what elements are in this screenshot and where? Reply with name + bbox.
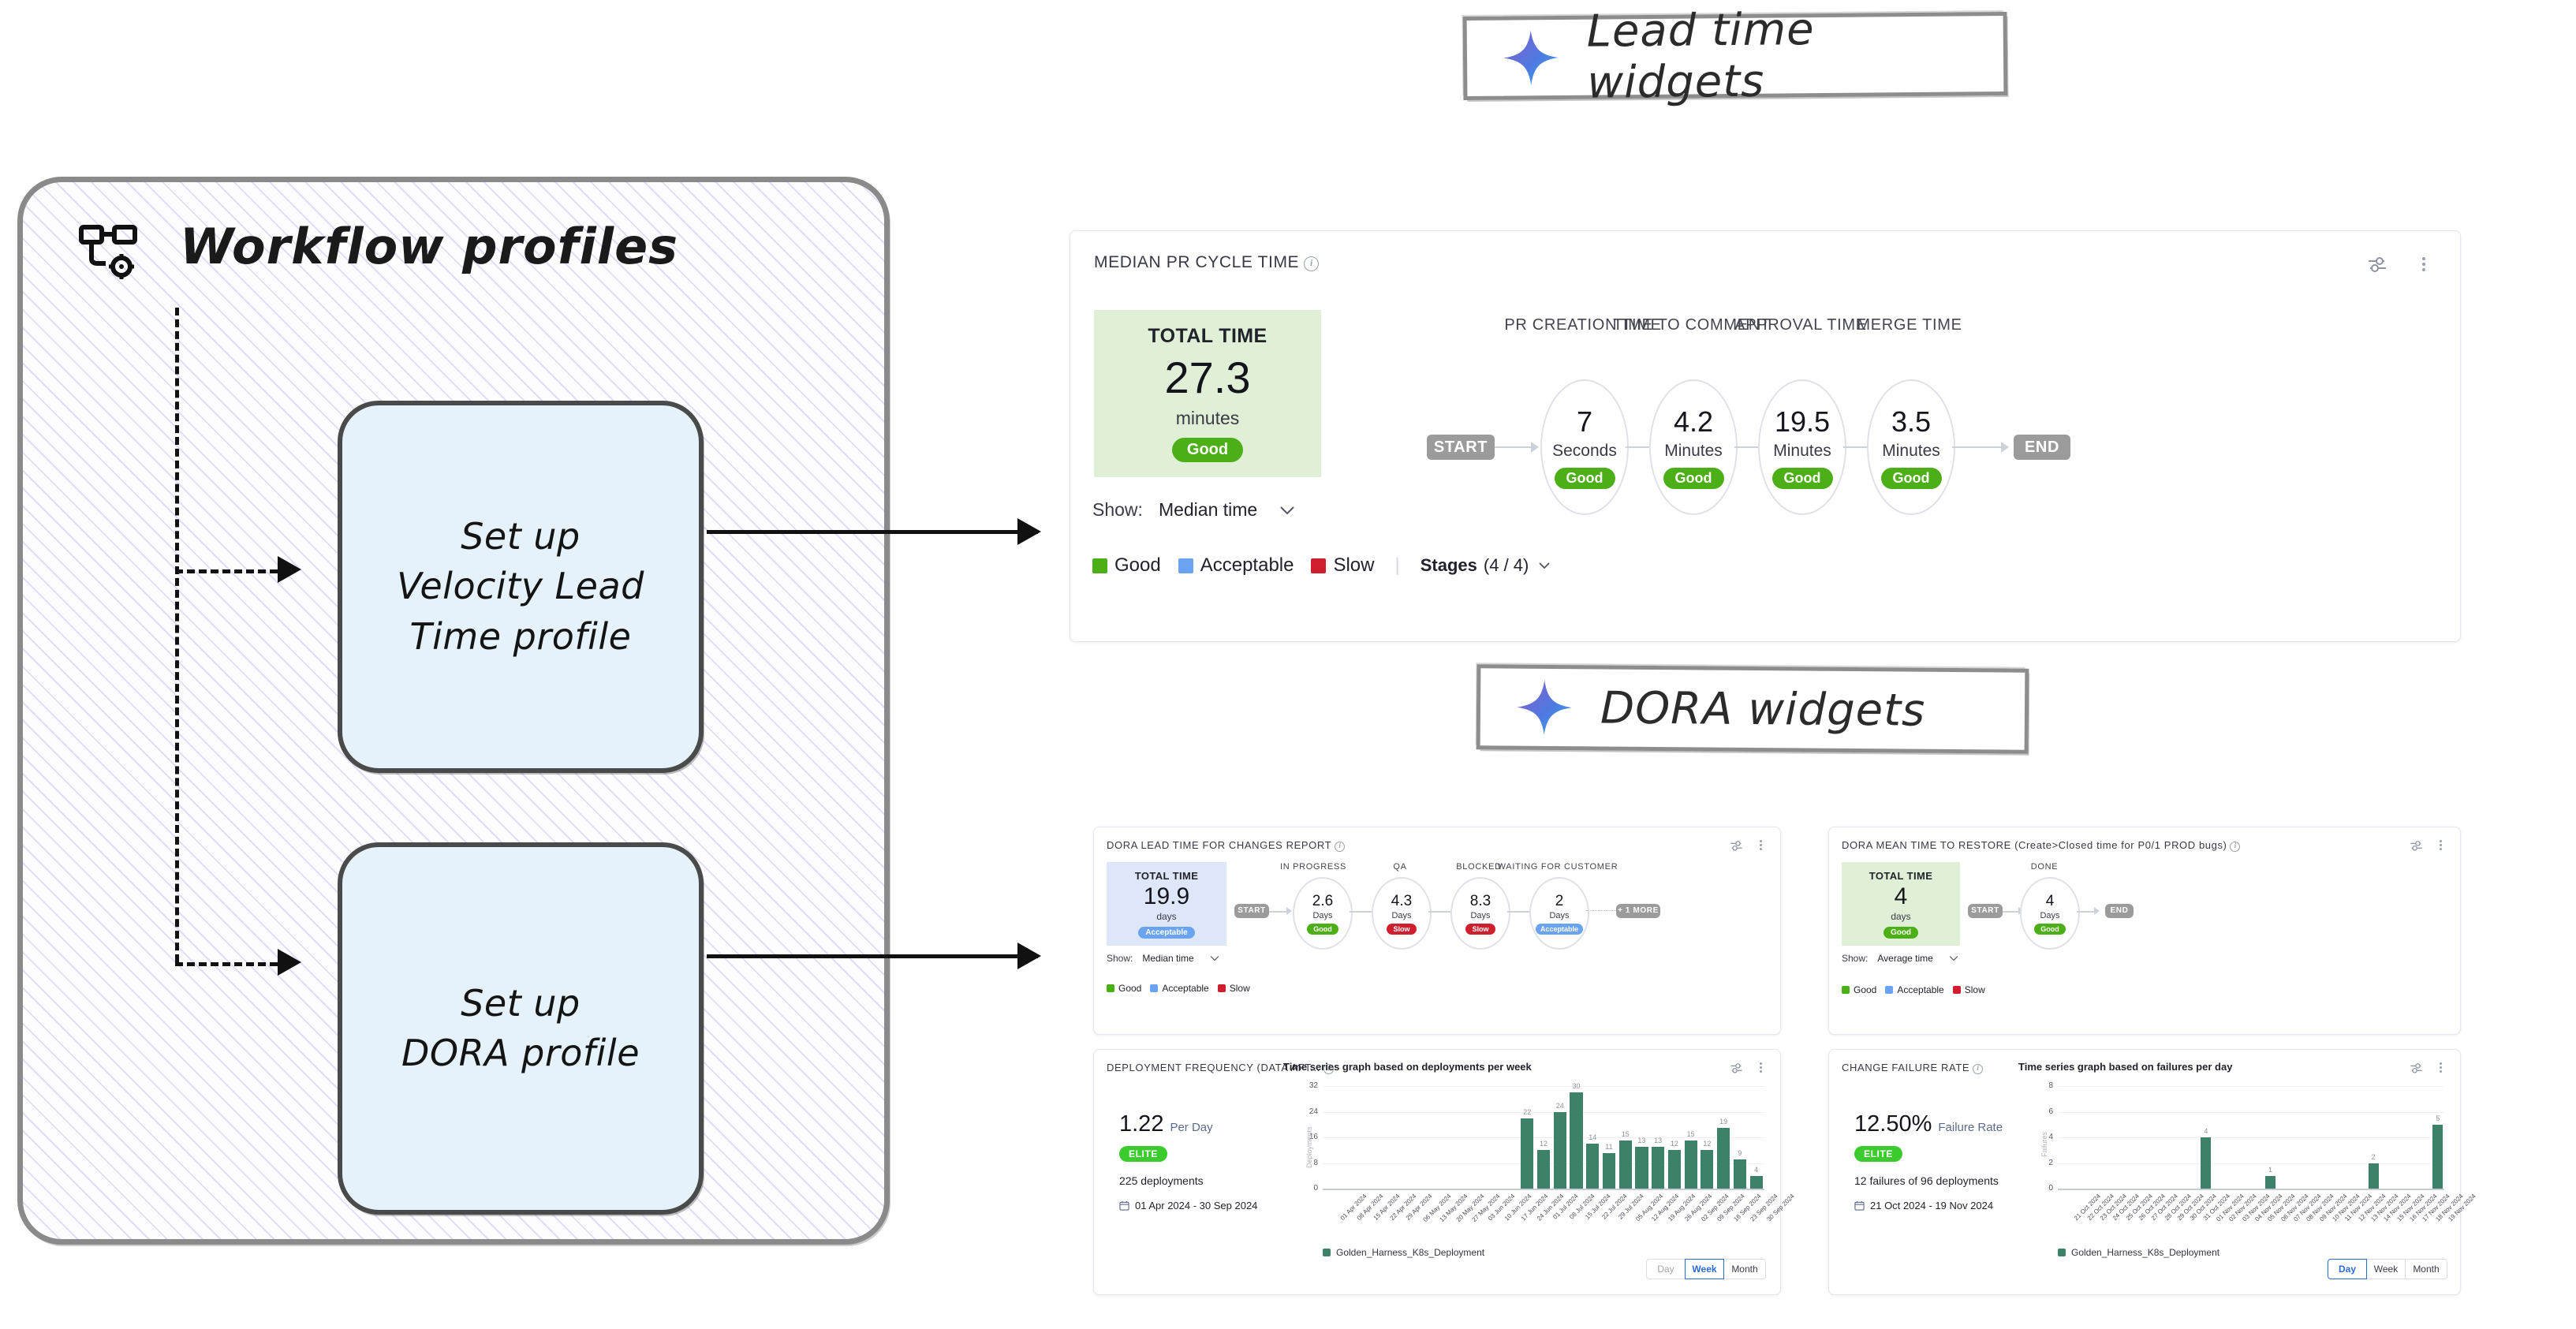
date-range: 21 Oct 2024 - 19 Nov 2024 <box>1870 1200 1993 1211</box>
stage-status-badge: Good <box>1772 468 1833 489</box>
stage-ellipse-2[interactable]: 8.3 Days Slow <box>1450 877 1510 950</box>
stage-status-badge: Slow <box>1465 924 1495 935</box>
legend-swatch-acceptable <box>1150 984 1158 992</box>
legend-label-slow: Slow <box>1965 984 1985 995</box>
stage-ellipse-1[interactable]: 4.3 Days Slow <box>1372 877 1432 950</box>
range-button-month[interactable]: Month <box>1723 1259 1766 1279</box>
total-time-value: 27.3 <box>1165 356 1251 400</box>
kpi-value: 1.22 <box>1119 1111 1163 1137</box>
bar-value-label: 1 <box>2265 1166 2275 1174</box>
kpi-unit: Failure Rate <box>1938 1121 2003 1134</box>
stage-value: 2.6 <box>1312 893 1333 910</box>
node-label: Set up DORA profile <box>401 979 640 1079</box>
y-axis-title: Failures <box>2040 1132 2048 1157</box>
connector <box>1495 446 1533 448</box>
stage-unit: Minutes <box>1773 442 1831 461</box>
kpi-block: 12.50% Failure Rate ELITE 12 failures of… <box>1854 1111 2003 1211</box>
bar-value-label: 13 <box>1635 1137 1648 1144</box>
stage-ellipse-3[interactable]: 3.5 Minutes Good <box>1867 379 1955 515</box>
show-control[interactable]: Show: Median time <box>1107 953 1219 964</box>
stage-value: 4.3 <box>1391 893 1412 910</box>
dora-lead-time-card: DORA LEAD TIME FOR CHANGES REPORTi TOTAL… <box>1093 827 1781 1035</box>
bar-value-label: 12 <box>1668 1140 1681 1148</box>
sliders-icon[interactable] <box>1730 839 1743 852</box>
dashed-branch-velocity <box>175 569 278 573</box>
bar-value-label: 4 <box>1750 1166 1763 1174</box>
range-toggle-group[interactable]: Day Week Month <box>1646 1259 1766 1279</box>
stage-status-badge: Slow <box>1387 924 1416 935</box>
total-time-label: TOTAL TIME <box>1135 870 1199 882</box>
show-label: Show: <box>1107 953 1133 964</box>
show-label: Show: <box>1842 953 1868 964</box>
range-toggle-group[interactable]: Day Week Month <box>2328 1259 2447 1279</box>
stage-status-badge: Good <box>1881 468 1942 489</box>
y-axis-tick: 8 <box>2034 1081 2053 1090</box>
info-icon[interactable]: i <box>2230 842 2240 852</box>
stage-status-badge: Good <box>1555 468 1615 489</box>
bar[interactable] <box>2369 1163 2379 1189</box>
stage-unit: Days <box>1470 911 1490 920</box>
total-time-status-badge: Good <box>1172 438 1243 462</box>
stage-unit: Minutes <box>1664 442 1723 461</box>
card-title: DORA MEAN TIME TO RESTORE (Create>Closed… <box>1842 839 2227 851</box>
range-button-week[interactable]: Week <box>2366 1259 2406 1279</box>
bar-value-label: 9 <box>1734 1149 1746 1157</box>
total-time-label: TOTAL TIME <box>1148 325 1267 348</box>
series-swatch <box>2058 1249 2066 1256</box>
stages-count: (4 / 4) <box>1484 555 1529 576</box>
x-axis-line <box>1323 1189 1764 1190</box>
connector <box>1952 446 2003 448</box>
bar-value-label: 15 <box>1619 1130 1632 1138</box>
range-button-month[interactable]: Month <box>2405 1259 2447 1279</box>
sparkle-icon <box>1502 28 1561 88</box>
bar-value-label: 19 <box>1717 1118 1730 1126</box>
grid-line <box>1323 1112 1764 1113</box>
stage-unit: Days <box>1549 911 1569 920</box>
info-icon[interactable]: i <box>1335 842 1345 852</box>
stage-value: 4 <box>2046 893 2055 910</box>
start-cap: START <box>1234 904 1269 918</box>
stage-value: 19.5 <box>1775 405 1830 439</box>
connector-arrow <box>2001 442 2009 453</box>
legend-swatch-slow <box>1311 558 1326 573</box>
stage-ellipse-3[interactable]: 2 Days Acceptable <box>1529 877 1589 950</box>
kpi-value: 12.50% <box>1854 1111 1932 1137</box>
bar-value-label: 14 <box>1586 1133 1599 1141</box>
kebab-menu-icon[interactable] <box>2435 838 2446 852</box>
stages-label[interactable]: Stages <box>1421 555 1477 576</box>
bar-value-label: 12 <box>1537 1140 1550 1148</box>
y-axis-tick: 0 <box>1299 1184 1318 1193</box>
bar[interactable] <box>2432 1125 2443 1189</box>
bar[interactable] <box>1701 1150 1713 1189</box>
stage-status-badge: Good <box>2034 924 2066 935</box>
show-control[interactable]: Show: Average time <box>1842 953 1958 964</box>
grid-line <box>1323 1137 1764 1138</box>
grid-line <box>2058 1163 2444 1164</box>
bar[interactable] <box>1652 1147 1664 1189</box>
legend-label-slow: Slow <box>1230 983 1250 994</box>
stage-value: 2 <box>1555 893 1564 910</box>
bar-value-label: 13 <box>1652 1137 1664 1144</box>
sub-metric: 225 deployments <box>1119 1174 1257 1187</box>
total-time-value: 4 <box>1895 885 1908 909</box>
y-axis-tick: 24 <box>1299 1107 1318 1116</box>
chevron-down-icon[interactable] <box>1949 955 1958 961</box>
bar-value-label: 22 <box>1521 1108 1533 1116</box>
end-label: END <box>2111 906 2129 915</box>
bar[interactable] <box>1750 1176 1763 1189</box>
range-button-day[interactable]: Day <box>2328 1259 2367 1279</box>
sparkle-icon <box>1515 678 1574 737</box>
bar-value-label: 4 <box>2201 1127 2211 1135</box>
stage-ellipse-1[interactable]: 4.2 Minutes Good <box>1649 379 1738 515</box>
bar[interactable] <box>1521 1118 1533 1189</box>
dashed-branch-dora <box>175 962 278 966</box>
legend-label-acceptable: Acceptable <box>1897 984 1943 995</box>
bar[interactable] <box>1635 1147 1648 1189</box>
start-label: START <box>1971 906 1999 915</box>
performance-badge: ELITE <box>1119 1146 1167 1162</box>
kpi-block: 1.22 Per Day ELITE 225 deployments 01 Ap… <box>1119 1111 1257 1211</box>
total-time-status-badge: Acceptable <box>1138 927 1194 939</box>
connector-arrow <box>1286 907 1292 915</box>
bar-value-label: 30 <box>1570 1082 1582 1090</box>
date-range: 01 Apr 2024 - 30 Sep 2024 <box>1135 1200 1257 1211</box>
stage-ellipse-2[interactable]: 19.5 Minutes Good <box>1758 379 1846 515</box>
legend-swatch-good <box>1092 558 1107 573</box>
total-time-panel: TOTAL TIME 27.3 minutes Good <box>1094 310 1321 477</box>
bar[interactable] <box>1554 1112 1566 1189</box>
stage-unit: Seconds <box>1552 442 1617 461</box>
y-axis-tick: 2 <box>2034 1159 2053 1167</box>
stage-header-3: WAITING FOR CUSTOMER <box>1487 862 1629 872</box>
stage-status-badge: Good <box>1663 468 1724 489</box>
bar[interactable] <box>1537 1150 1550 1189</box>
y-axis-tick: 0 <box>2034 1184 2053 1193</box>
bar[interactable] <box>1717 1128 1730 1189</box>
stage-value: 8.3 <box>1470 893 1491 910</box>
stage-unit: Minutes <box>1882 442 1940 461</box>
bar-value-label: 5 <box>2432 1114 2443 1122</box>
legend-label-good: Good <box>1114 554 1161 577</box>
dora-mttr-card: DORA MEAN TIME TO RESTORE (Create>Closed… <box>1828 827 2461 1035</box>
total-time-unit: days <box>1891 911 1910 922</box>
legend-swatch-slow <box>1218 984 1226 992</box>
workflow-profiles-title: Workflow profiles <box>180 218 678 275</box>
stage-unit: Days <box>1312 911 1332 920</box>
bar[interactable] <box>1668 1150 1681 1189</box>
legend-swatch-good <box>1107 984 1114 992</box>
series-legend: Golden_Harness_K8s_Deployment <box>1323 1247 1484 1258</box>
bar-value-label: 2 <box>2369 1153 2379 1161</box>
show-value: Median time <box>1142 953 1193 964</box>
banner-lead-time-widgets: Lead time widgets <box>1463 12 2008 100</box>
arrowhead-dora <box>278 949 301 976</box>
bar-value-label: 24 <box>1554 1102 1566 1110</box>
total-time-status-badge: Good <box>1883 927 1918 939</box>
grid-line <box>2058 1086 2444 1087</box>
bar-value-label: 11 <box>1603 1143 1615 1151</box>
calendar-icon <box>1119 1200 1129 1211</box>
bar-value-label: 12 <box>1701 1140 1713 1148</box>
x-axis-line <box>2058 1189 2444 1190</box>
arrow-velocity-to-lead-widgets <box>707 530 1038 534</box>
y-axis-title: Deployments <box>1305 1126 1313 1168</box>
legend-swatch-acceptable <box>1885 986 1893 994</box>
banner-dora-widgets: DORA widgets <box>1477 664 2029 753</box>
total-time-unit: minutes <box>1176 408 1240 429</box>
sliders-icon[interactable] <box>2367 255 2387 274</box>
stage-value: 4.2 <box>1674 405 1713 439</box>
kebab-menu-icon[interactable] <box>2435 1061 2446 1074</box>
end-cap: END <box>2105 904 2134 918</box>
bar[interactable] <box>1619 1140 1632 1189</box>
banner-label: Lead time widgets <box>1586 2 2003 109</box>
end-label: END <box>2025 439 2059 456</box>
stage-header-3: MERGE TIME <box>1791 316 2028 334</box>
series-label: Golden_Harness_K8s_Deployment <box>2071 1247 2219 1258</box>
arrowhead-velocity <box>278 556 301 583</box>
range-button-day[interactable]: Day <box>1646 1259 1686 1279</box>
kpi-unit: Per Day <box>1170 1121 1212 1134</box>
grid-line <box>1323 1086 1764 1087</box>
stage-ellipse-0[interactable]: 4 Days Good <box>2020 877 2080 950</box>
show-value: Median time <box>1159 499 1257 521</box>
legend-label-acceptable: Acceptable <box>1200 554 1294 577</box>
y-axis-tick: 32 <box>1299 1081 1318 1090</box>
total-time-panel: TOTAL TIME 19.9 days Acceptable <box>1107 862 1226 946</box>
stage-header-0: DONE <box>1993 862 2096 872</box>
stage-status-badge: Acceptable <box>1536 924 1583 935</box>
banner-label: DORA widgets <box>1600 682 1926 736</box>
start-label: START <box>1434 439 1488 456</box>
dashed-spine <box>175 308 179 962</box>
bar[interactable] <box>1734 1159 1746 1189</box>
node-label: Set up Velocity Lead Time profile <box>397 512 644 662</box>
legend-label-good: Good <box>1854 984 1876 995</box>
stage-unit: Days <box>1391 911 1411 920</box>
sliders-icon[interactable] <box>1730 1062 1743 1074</box>
chart-subtitle: Time series graph based on deployments p… <box>1283 1061 1532 1073</box>
node-setup-dora-profile[interactable]: Set up DORA profile <box>338 842 704 1215</box>
legend-swatch-slow <box>1953 986 1961 994</box>
info-icon[interactable]: i <box>1973 1064 1983 1074</box>
kebab-menu-icon[interactable] <box>2416 255 2432 274</box>
chevron-down-icon[interactable] <box>1538 562 1551 569</box>
show-label: Show: <box>1092 499 1143 521</box>
deployment-frequency-chart: 0816243201 Apr 202408 Apr 202415 Apr 202… <box>1323 1086 1764 1189</box>
bar[interactable] <box>1603 1153 1615 1189</box>
bar[interactable] <box>2265 1176 2275 1189</box>
legend-swatch-good <box>1842 986 1850 994</box>
median-pr-cycle-time-card: MEDIAN PR CYCLE TIMEi TOTAL TIME 27.3 mi… <box>1070 230 2461 642</box>
sliders-icon[interactable] <box>2410 839 2423 852</box>
connector-dotted <box>1586 910 1616 911</box>
calendar-icon <box>1854 1200 1865 1211</box>
bar[interactable] <box>1685 1140 1697 1189</box>
bar[interactable] <box>1570 1092 1582 1189</box>
bar[interactable] <box>2201 1137 2211 1189</box>
sub-metric: 12 failures of 96 deployments <box>1854 1174 2003 1187</box>
total-time-unit: days <box>1156 911 1176 922</box>
info-icon[interactable]: i <box>1304 256 1319 271</box>
kebab-menu-icon[interactable] <box>1755 838 1766 852</box>
show-control[interactable]: Show: Median time <box>1092 499 1295 521</box>
change-failure-rate-chart: 0246821 Oct 202422 Oct 202423 Oct 202424… <box>2058 1086 2444 1189</box>
series-swatch <box>1323 1249 1331 1256</box>
grid-line <box>2058 1137 2444 1138</box>
legend-label-good: Good <box>1118 983 1141 994</box>
y-axis-tick: 6 <box>2034 1107 2053 1116</box>
grid-line <box>2058 1112 2444 1113</box>
node-setup-velocity-lead-time-profile[interactable]: Set up Velocity Lead Time profile <box>338 401 704 773</box>
card-title: DORA LEAD TIME FOR CHANGES REPORT <box>1107 839 1331 851</box>
legend-label-acceptable: Acceptable <box>1162 983 1208 994</box>
bar[interactable] <box>1586 1144 1599 1189</box>
bar-value-label: 15 <box>1685 1130 1697 1138</box>
stage-value: 7 <box>1577 405 1592 439</box>
connector-arrow <box>2094 907 2100 915</box>
total-time-panel: TOTAL TIME 4 days Good <box>1842 862 1960 946</box>
start-label: START <box>1238 906 1266 915</box>
change-failure-rate-card: CHANGE FAILURE RATEi Time series graph b… <box>1828 1049 2461 1295</box>
arrowhead-dora-widgets <box>1017 943 1041 969</box>
sliders-icon[interactable] <box>2410 1062 2423 1074</box>
connector-arrow <box>1531 442 1539 453</box>
arrow-dora-to-dora-widgets <box>707 954 1038 958</box>
stage-unit: Days <box>2040 911 2059 920</box>
stage-ellipse-0[interactable]: 2.6 Days Good <box>1293 877 1353 950</box>
more-stages-cap[interactable]: + 1 MORE <box>1616 904 1660 918</box>
range-button-week[interactable]: Week <box>1685 1259 1724 1279</box>
show-value: Average time <box>1877 953 1932 964</box>
legend-swatch-acceptable <box>1178 558 1193 573</box>
stage-status-badge: Good <box>1307 924 1338 935</box>
more-label: + 1 MORE <box>1618 906 1659 915</box>
arrowhead-lead-widgets <box>1017 518 1041 545</box>
total-time-value: 19.9 <box>1144 885 1189 909</box>
card-title: CHANGE FAILURE RATE <box>1842 1062 1969 1073</box>
kebab-menu-icon[interactable] <box>1755 1061 1766 1074</box>
start-cap: START <box>1427 435 1495 460</box>
series-label: Golden_Harness_K8s_Deployment <box>1336 1247 1484 1258</box>
stage-ellipse-0[interactable]: 7 Seconds Good <box>1540 379 1629 515</box>
deployment-frequency-card: DEPLOYMENT FREQUENCY (Data Aft...i Time … <box>1093 1049 1781 1295</box>
legend-label-slow: Slow <box>1333 554 1374 577</box>
chart-subtitle: Time series graph based on failures per … <box>2018 1061 2232 1073</box>
legend-row: Good Acceptable Slow <box>1842 984 1985 995</box>
series-legend: Golden_Harness_K8s_Deployment <box>2058 1247 2219 1258</box>
end-cap: END <box>2014 435 2070 460</box>
total-time-label: TOTAL TIME <box>1869 870 1933 882</box>
performance-badge: ELITE <box>1854 1146 1902 1162</box>
stage-value: 3.5 <box>1891 405 1931 439</box>
chevron-down-icon[interactable] <box>1210 955 1219 961</box>
legend-row: Good Acceptable Slow <box>1107 983 1250 994</box>
start-cap: START <box>1968 904 2003 918</box>
legend-row: Good Acceptable Slow | Stages (4 / 4) <box>1092 554 1551 577</box>
card-title: MEDIAN PR CYCLE TIME <box>1094 253 1299 271</box>
chevron-down-icon[interactable] <box>1279 506 1295 515</box>
workflow-gear-icon <box>79 224 144 282</box>
